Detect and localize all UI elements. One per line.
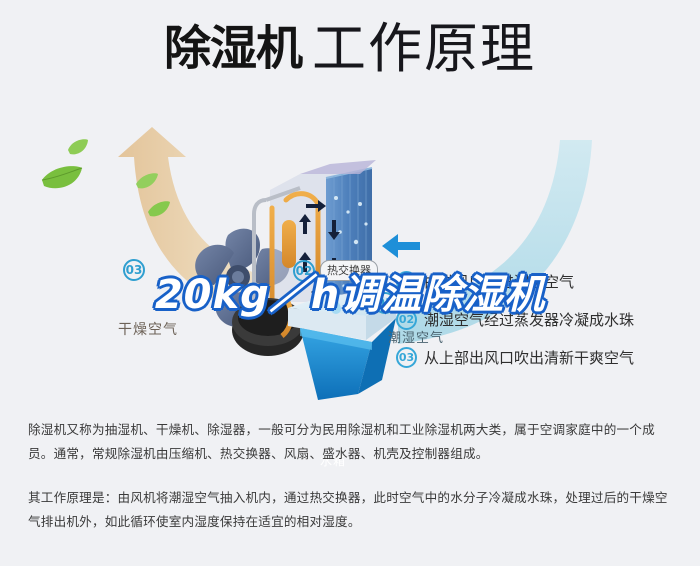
legend-badge-03: 03 <box>396 347 417 368</box>
description-block: 除湿机又称为抽湿机、干燥机、除湿器，一般可分为民用除湿机和工业除湿机两大类，属于… <box>28 418 678 534</box>
page-title-primary: 除湿机 <box>164 22 302 77</box>
description-paragraph-2: 其工作原理是：由风机将潮湿空气抽入机内，通过热交换器，此时空气中的水分子冷凝成水… <box>28 486 678 534</box>
page-title-secondary: 工作原理 <box>312 19 536 79</box>
page-title: 除湿机工作原理 <box>0 22 700 76</box>
dry-air-label: 干燥空气 <box>118 319 178 339</box>
product-info-page: 除湿机工作原理 <box>0 0 700 566</box>
product-name-watermark: 20kg／h调温除湿机 <box>0 262 700 320</box>
watermark-text: 20kg／h调温除湿机 <box>155 272 545 318</box>
legend-text-03: 从上部出风口吹出清新干爽空气 <box>424 347 634 368</box>
list-item: 03 从上部出风口吹出清新干爽空气 <box>396 338 696 376</box>
description-paragraph-1: 除湿机又称为抽湿机、干燥机、除湿器，一般可分为民用除湿机和工业除湿机两大类，属于… <box>28 418 678 466</box>
intake-arrow <box>382 234 420 258</box>
